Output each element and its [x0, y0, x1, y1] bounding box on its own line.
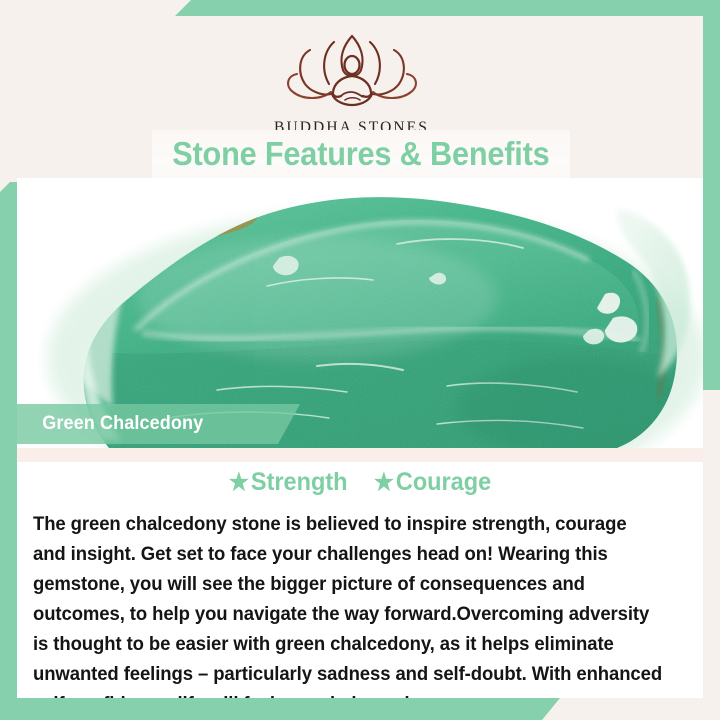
page-title: Stone Features & Benefits: [172, 135, 549, 173]
frame-band-left: [0, 182, 17, 698]
brand-logo: BUDDHA STONES: [0, 30, 703, 137]
keyword-row: ★ Strength ★ Courage: [17, 468, 703, 497]
lotus-meditation-icon: [277, 30, 427, 115]
keyword-courage-label: Courage: [396, 468, 491, 497]
star-icon: ★: [373, 471, 393, 495]
frame-band-right: [703, 0, 720, 390]
content-card: ★ Strength ★ Courage The green chalcedon…: [17, 462, 703, 698]
frame-band-bottom: [0, 698, 560, 720]
frame-band-top: [175, 0, 720, 16]
poster-root: BUDDHA STONES Stone Features & Benefits: [0, 0, 720, 720]
frame-bottom-cream-corner: [545, 698, 720, 720]
keyword-courage: ★ Courage: [373, 468, 490, 497]
description-paragraph: The green chalcedony stone is believed t…: [33, 509, 662, 719]
title-banner: Stone Features & Benefits: [152, 130, 570, 178]
keyword-strength-label: Strength: [251, 468, 348, 497]
star-icon: ★: [229, 471, 249, 495]
stone-name-label: Green Chalcedony: [42, 413, 203, 435]
stone-name-banner: Green Chalcedony: [0, 404, 300, 444]
keyword-strength: ★ Strength: [229, 468, 348, 497]
